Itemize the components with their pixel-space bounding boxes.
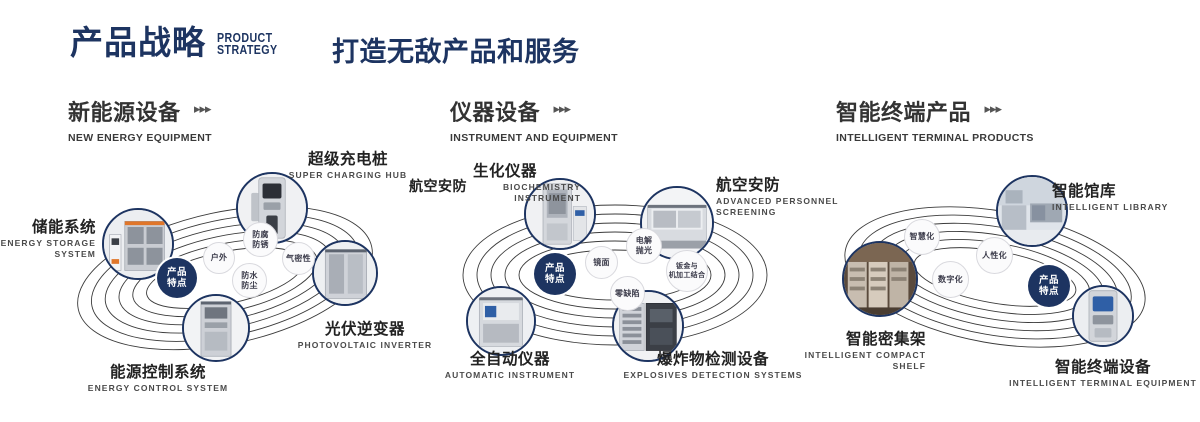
section-title-cn: 仪器设备	[450, 95, 540, 127]
chevron-right-icon: ▸▸▸	[553, 101, 570, 117]
label-cn: 能源控制系统	[68, 363, 248, 381]
page-title: 产品战略 PRODUCT STRATEGY	[70, 26, 291, 59]
feature-label: 防腐 防锈	[252, 230, 269, 250]
core-bubble-product-features[interactable]: 产品 特点	[534, 253, 576, 295]
label-cn: 智能密集架	[782, 330, 926, 348]
core-bubble-product-features[interactable]: 产品 特点	[1028, 265, 1070, 307]
label-super-charging-hub: 超级充电桩 SUPER CHARGING HUB	[268, 150, 428, 181]
automatic-analyzer-image	[468, 288, 534, 354]
label-intelligent-terminal-equipment: 智能终端设备 INTELLIGENT TERMINAL EQUIPMENT	[1008, 358, 1198, 389]
label-en: PHOTOVOLTAIC INVERTER	[285, 340, 445, 351]
label-cn: 生化仪器	[473, 162, 603, 180]
label-en: INTELLIGENT TERMINAL EQUIPMENT	[1008, 378, 1198, 389]
section-title-cn: 智能终端产品	[836, 95, 971, 127]
chevron-right-icon: ▸▸▸	[194, 101, 211, 117]
core-label-line2: 特点	[167, 278, 187, 289]
feature-bubble-electro-polishing[interactable]: 电解 抛光	[626, 228, 662, 264]
feature-bubble-digitalized[interactable]: 数字化	[932, 261, 969, 298]
page-title-en: PRODUCT STRATEGY	[217, 29, 278, 56]
label-en: ENERGY CONTROL SYSTEM	[68, 383, 248, 394]
core-bubble-product-features[interactable]: 产品 特点	[157, 258, 197, 298]
label-cn: 全自动仪器	[425, 350, 595, 368]
feature-bubble-intelligent[interactable]: 智慧化	[904, 219, 940, 255]
label-en: SUPER CHARGING HUB	[268, 170, 428, 181]
photo-bubble-energy-control-system[interactable]	[182, 294, 250, 362]
label-en: INTELLIGENT LIBRARY	[1052, 202, 1200, 213]
label-biochemistry-instrument: 生化仪器 BIOCHEMISTRY INSTRUMENT	[473, 162, 603, 204]
section-header-instrument: 仪器设备 ▸▸▸ INSTRUMENT AND EQUIPMENT	[450, 95, 618, 144]
label-en: AUTOMATIC INSTRUMENT	[425, 370, 595, 381]
section-header-new-energy: 新能源设备 ▸▸▸ NEW ENERGY EQUIPMENT	[68, 95, 212, 144]
label-intelligent-library: 智能馆库 INTELLIGENT LIBRARY	[1052, 182, 1200, 213]
label-cn: 光伏逆变器	[285, 320, 445, 338]
feature-bubble-waterproof-dustproof[interactable]: 防水 防尘	[232, 263, 267, 298]
core-label-line2: 特点	[545, 274, 565, 285]
label-cn: 智能馆库	[1052, 182, 1200, 200]
feature-bubble-zero-defect[interactable]: 零缺陷	[610, 276, 645, 311]
core-label-line1: 产品	[1039, 275, 1059, 286]
label-en: EXPLOSIVES DETECTION SYSTEMS	[620, 370, 806, 381]
feature-bubble-anticorrosion[interactable]: 防腐 防锈	[243, 222, 278, 257]
feature-label: 零缺陷	[615, 289, 640, 299]
section-title-en: NEW ENERGY EQUIPMENT	[68, 132, 212, 144]
label-cn: 智能终端设备	[1008, 358, 1198, 376]
feature-label: 智慧化	[910, 232, 935, 242]
page-title-cn: 产品战略	[70, 26, 206, 59]
cluster-new-energy-equipment: 产品 特点 户外 防腐 防锈 防水 防尘 气密性	[40, 160, 440, 390]
photo-bubble-photovoltaic-inverter[interactable]	[312, 240, 378, 306]
core-label-line2: 特点	[1039, 286, 1059, 297]
feature-bubble-airtightness[interactable]: 气密性	[282, 242, 315, 275]
label-intelligent-compact-shelf: 智能密集架 INTELLIGENT COMPACT SHELF	[782, 330, 926, 372]
section-title-cn: 新能源设备	[68, 95, 181, 127]
feature-label: 户外	[211, 253, 228, 263]
label-cn: 储能系统	[0, 218, 96, 236]
label-energy-control-system: 能源控制系统 ENERGY CONTROL SYSTEM	[68, 363, 248, 394]
feature-label: 钣金与 机加工结合	[669, 262, 706, 280]
label-cn: 超级充电桩	[268, 150, 428, 168]
section-title-en: INSTRUMENT AND EQUIPMENT	[450, 132, 618, 144]
feature-label: 数字化	[938, 275, 963, 285]
inverter-cabinet-image	[314, 242, 376, 304]
page-title-en-line2: STRATEGY	[217, 44, 278, 56]
chevron-right-icon: ▸▸▸	[984, 101, 1001, 117]
photo-bubble-intelligent-terminal-equipment[interactable]	[1072, 285, 1134, 347]
feature-label: 气密性	[286, 254, 311, 264]
photo-bubble-automatic-instrument[interactable]	[466, 286, 536, 356]
feature-bubble-mirror-finish[interactable]: 镜面	[585, 246, 618, 279]
feature-label: 电解 抛光	[636, 236, 653, 256]
label-en: BIOCHEMISTRY INSTRUMENT	[473, 182, 581, 204]
section-header-intelligent-terminal: 智能终端产品 ▸▸▸ INTELLIGENT TERMINAL PRODUCTS	[836, 95, 1034, 144]
feature-label: 防水 防尘	[241, 271, 258, 291]
product-strategy-infographic: 产品战略 PRODUCT STRATEGY 打造无敌产品和服务 新能源设备 ▸▸…	[0, 0, 1200, 422]
page-subtitle: 打造无敌产品和服务	[332, 30, 580, 69]
label-photovoltaic-inverter: 光伏逆变器 PHOTOVOLTAIC INVERTER	[285, 320, 445, 351]
section-title-en: INTELLIGENT TERMINAL PRODUCTS	[836, 132, 1034, 144]
feature-bubble-outdoor[interactable]: 户外	[203, 242, 235, 274]
label-en: ENERGY STORAGE SYSTEM	[0, 238, 96, 260]
label-cn: 爆炸物检测设备	[620, 350, 806, 368]
label-energy-storage-system: 储能系统 ENERGY STORAGE SYSTEM	[0, 218, 96, 260]
self-service-kiosk-image	[1074, 287, 1132, 345]
feature-bubble-sheet-metal-machining[interactable]: 钣金与 机加工结合	[666, 250, 708, 292]
feature-label: 镜面	[593, 258, 610, 268]
label-automatic-instrument: 全自动仪器 AUTOMATIC INSTRUMENT	[425, 350, 595, 381]
core-label-line1: 产品	[545, 263, 565, 274]
label-explosives-detection-systems: 爆炸物检测设备 EXPLOSIVES DETECTION SYSTEMS	[620, 350, 806, 381]
compact-shelf-image	[844, 243, 916, 315]
feature-bubble-humanized[interactable]: 人性化	[976, 237, 1013, 274]
control-cabinet-image	[184, 296, 248, 360]
photo-bubble-intelligent-compact-shelf[interactable]	[842, 241, 918, 317]
label-en: INTELLIGENT COMPACT SHELF	[782, 350, 926, 372]
core-label-line1: 产品	[167, 267, 187, 278]
feature-label: 人性化	[982, 251, 1007, 261]
